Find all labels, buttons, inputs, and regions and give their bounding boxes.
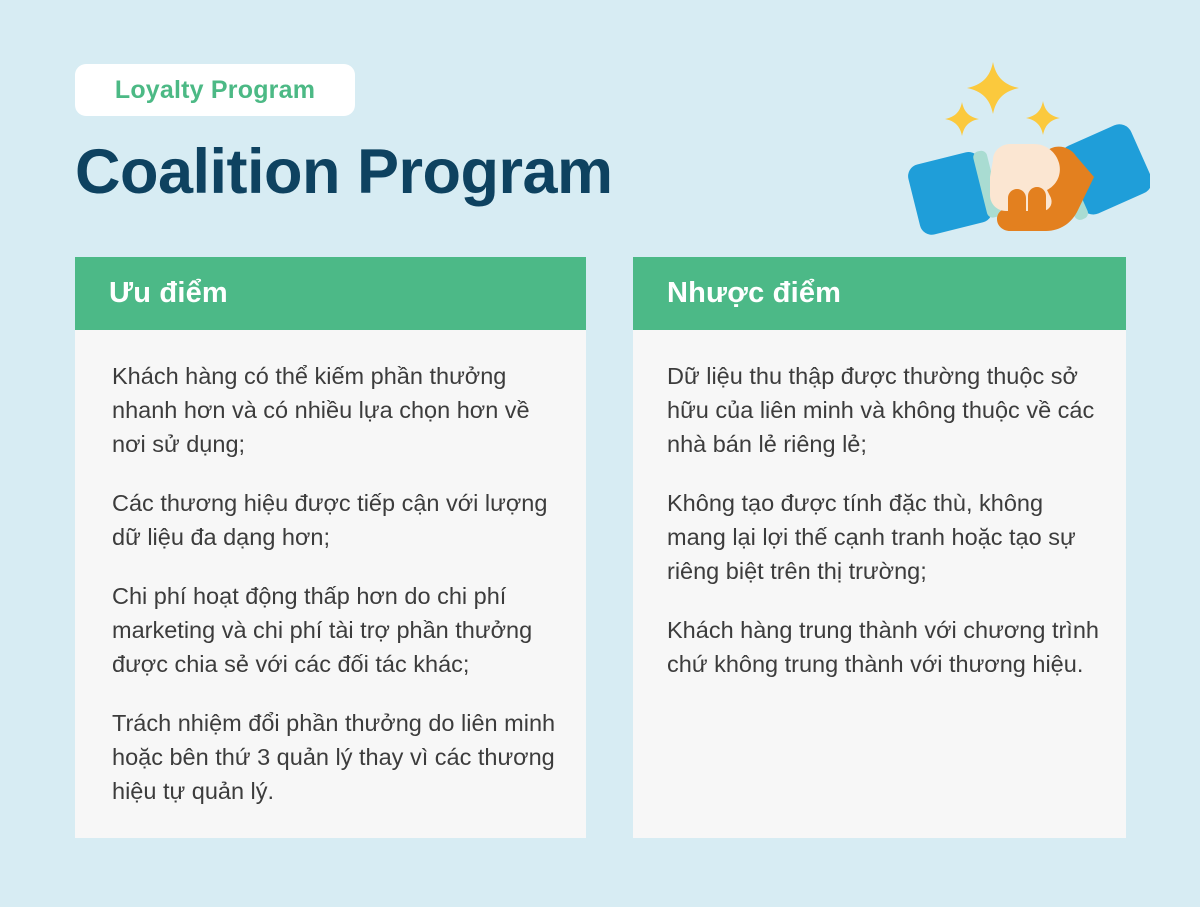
advantages-card-body: Khách hàng có thể kiếm phần thưởng nhanh… (75, 330, 586, 808)
advantages-paragraph: Các thương hiệu được tiếp cận với lượng … (112, 486, 560, 554)
disadvantages-card: Nhược điểm Dữ liệu thu thập được thường … (633, 257, 1126, 838)
handshake-sparkle-illustration (900, 50, 1150, 235)
disadvantages-card-header: Nhược điểm (633, 257, 1126, 330)
sparkle-star-small-right-icon (1026, 101, 1060, 135)
disadvantages-card-body: Dữ liệu thu thập được thường thuộc sở hữ… (633, 330, 1126, 681)
disadvantages-paragraph: Dữ liệu thu thập được thường thuộc sở hữ… (667, 359, 1108, 461)
sparkle-star-large-icon (967, 62, 1019, 114)
sparkle-star-small-left-icon (945, 102, 979, 136)
advantages-paragraph: Khách hàng có thể kiếm phần thưởng nhanh… (112, 359, 560, 461)
slide-canvas: Loyalty Program Coalition Program (0, 0, 1200, 907)
advantages-card-header: Ưu điểm (75, 257, 586, 330)
advantages-card: Ưu điểm Khách hàng có thể kiếm phần thưở… (75, 257, 586, 838)
advantages-paragraph: Trách nhiệm đổi phần thưởng do liên minh… (112, 706, 560, 808)
advantages-card-title: Ưu điểm (109, 279, 228, 308)
page-title: Coalition Program (75, 138, 613, 206)
badge-label: Loyalty Program (115, 78, 315, 103)
advantages-paragraph: Chi phí hoạt động thấp hơn do chi phí ma… (112, 579, 560, 681)
disadvantages-card-title: Nhược điểm (667, 279, 841, 308)
disadvantages-paragraph: Khách hàng trung thành với chương trình … (667, 613, 1108, 681)
disadvantages-paragraph: Không tạo được tính đặc thù, không mang … (667, 486, 1108, 588)
loyalty-program-badge: Loyalty Program (75, 64, 355, 116)
